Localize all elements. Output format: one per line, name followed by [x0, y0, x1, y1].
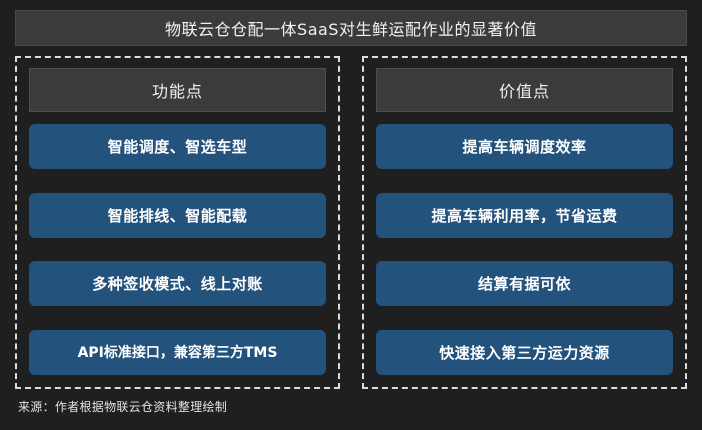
- panel-header-label: 功能点: [152, 78, 203, 102]
- list-item-label: 提高车辆调度效率: [462, 136, 586, 157]
- list-item-label: 智能排线、智能配载: [108, 205, 248, 226]
- panel-header-function-points: 功能点: [29, 68, 326, 112]
- panel-header-label: 价值点: [499, 78, 550, 102]
- list-item[interactable]: 提高车辆调度效率: [376, 124, 673, 169]
- chart-title-bar: 物联云仓仓配一体SaaS对生鲜运配作业的显著价值: [15, 10, 687, 46]
- panels-container: 功能点 智能调度、智选车型 智能排线、智能配载 多种签收模式、线上对账 API标…: [15, 56, 687, 389]
- panel-function-points: 功能点 智能调度、智选车型 智能排线、智能配载 多种签收模式、线上对账 API标…: [15, 56, 340, 389]
- panel-value-points: 价值点 提高车辆调度效率 提高车辆利用率，节省运费 结算有据可依 快速接入第三方…: [362, 56, 687, 389]
- list-item-label: 提高车辆利用率，节省运费: [431, 205, 617, 226]
- list-item-label: 结算有据可依: [478, 273, 571, 294]
- list-item-label: API标准接口，兼容第三方TMS: [78, 342, 278, 362]
- list-item[interactable]: 结算有据可依: [376, 261, 673, 306]
- panel-items-function-points: 智能调度、智选车型 智能排线、智能配载 多种签收模式、线上对账 API标准接口，…: [29, 124, 326, 375]
- source-note: 来源：作者根据物联云仓资料整理绘制: [18, 398, 227, 415]
- list-item-label: 智能调度、智选车型: [108, 136, 248, 157]
- infographic-root: 物联云仓仓配一体SaaS对生鲜运配作业的显著价值 功能点 智能调度、智选车型 智…: [0, 0, 702, 430]
- list-item[interactable]: 智能调度、智选车型: [29, 124, 326, 169]
- list-item[interactable]: 多种签收模式、线上对账: [29, 261, 326, 306]
- list-item[interactable]: 快速接入第三方运力资源: [376, 330, 673, 375]
- page-title: 物联云仓仓配一体SaaS对生鲜运配作业的显著价值: [165, 16, 537, 40]
- list-item-label: 多种签收模式、线上对账: [92, 273, 263, 294]
- list-item-label: 快速接入第三方运力资源: [439, 342, 610, 363]
- list-item[interactable]: 智能排线、智能配载: [29, 193, 326, 238]
- list-item[interactable]: API标准接口，兼容第三方TMS: [29, 330, 326, 375]
- list-item[interactable]: 提高车辆利用率，节省运费: [376, 193, 673, 238]
- panel-items-value-points: 提高车辆调度效率 提高车辆利用率，节省运费 结算有据可依 快速接入第三方运力资源: [376, 124, 673, 375]
- panel-header-value-points: 价值点: [376, 68, 673, 112]
